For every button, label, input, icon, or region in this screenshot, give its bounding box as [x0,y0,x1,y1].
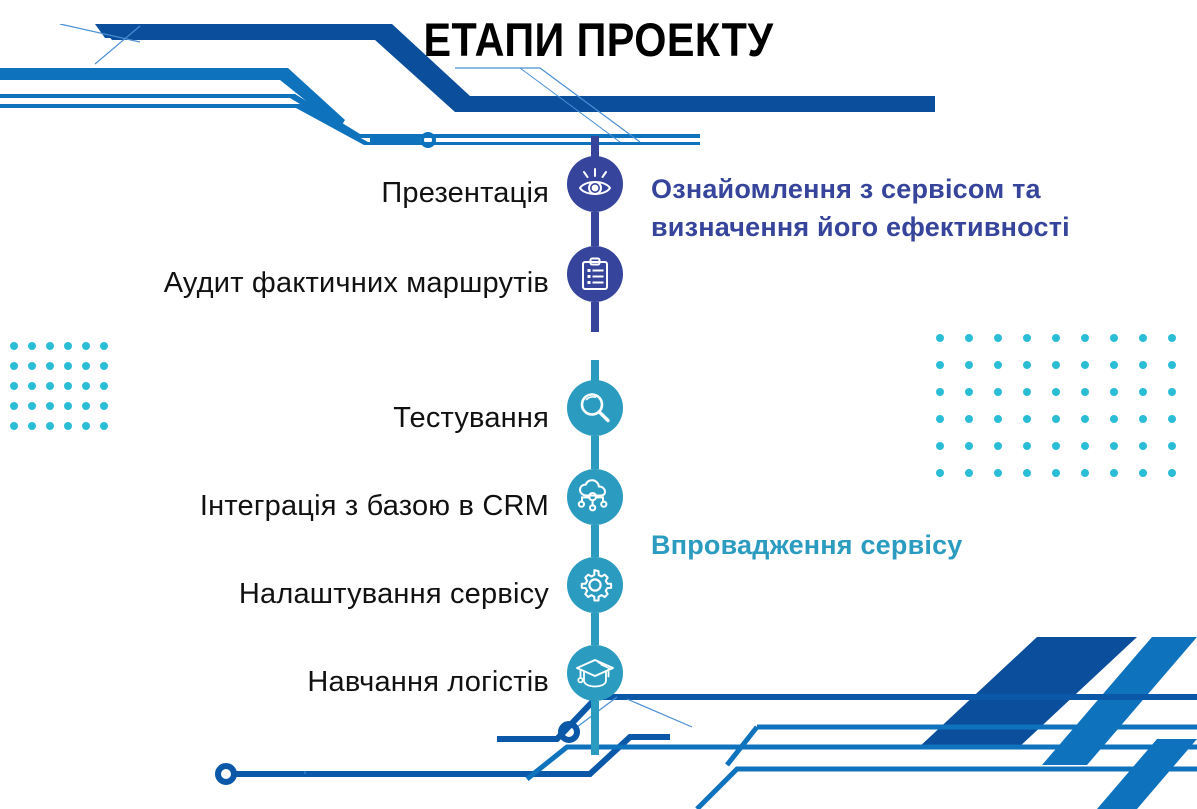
step-label-testing: Тестування [393,402,549,435]
timeline-spine-segment-4 [591,436,599,469]
page-title: ЕТАПИ ПРОЕКТУ [72,12,1125,67]
dot-grid-right-decoration [932,330,1197,490]
timeline-node-crm-integration[interactable] [567,469,623,525]
gear-icon [576,566,614,604]
timeline-spine-segment-6 [591,613,599,645]
dot-grid-left-decoration [0,338,124,438]
clipboard-icon [577,256,613,292]
step-label-logistician-training: Навчання логістів [307,666,549,699]
timeline-spine-group [567,120,623,760]
graduation-cap-icon [575,656,615,690]
timeline-node-testing[interactable] [567,380,623,436]
timeline-node-route-audit[interactable] [567,246,623,302]
magnifier-icon [577,390,613,426]
eye-icon [576,165,614,203]
timeline-spine-segment-2 [591,302,599,332]
timeline-node-logistician-training[interactable] [567,645,623,701]
timeline-spine-segment-bottom [591,701,599,755]
timeline-node-service-setup[interactable] [567,557,623,613]
step-label-presentation: Презентація [381,177,549,210]
phase-caption-implementation: Впровадження сервісу [651,526,1121,564]
step-label-service-setup: Налаштування сервісу [239,578,549,611]
slide-canvas: ЕТАПИ ПРОЕКТУ [0,0,1197,809]
phase-caption-familiarization: Ознайомлення з сервісом та визначення йо… [651,170,1121,247]
step-label-crm-integration: Інтеграція з базою в CRM [200,490,549,523]
timeline-spine-segment-1 [591,212,599,246]
timeline-spine-segment-5 [591,525,599,557]
timeline-node-presentation[interactable] [567,156,623,212]
cloud-network-icon [575,478,615,516]
step-label-route-audit: Аудит фактичних маршрутів [164,267,549,300]
